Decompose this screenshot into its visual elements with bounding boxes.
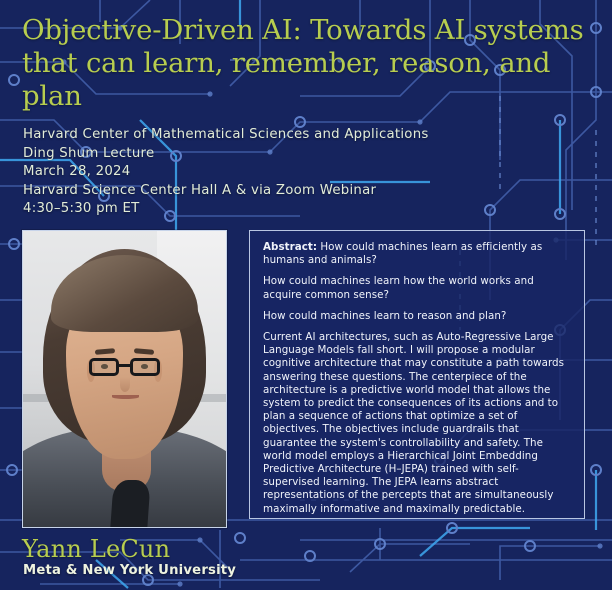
event-venue: Harvard Science Center Hall A & via Zoom… <box>23 182 429 201</box>
event-poster: Objective-Driven AI: Towards AI systems … <box>0 0 612 590</box>
speaker-photo <box>22 230 227 528</box>
photo-lens-right <box>130 358 160 377</box>
abstract-paragraph-1: Abstract: How could machines learn as ef… <box>263 241 571 267</box>
event-host: Harvard Center of Mathematical Sciences … <box>23 126 429 145</box>
abstract-paragraph-4: Current AI architectures, such as Auto-R… <box>263 331 571 516</box>
abstract-paragraph-3: How could machines learn to reason and p… <box>263 310 571 323</box>
abstract-panel: Abstract: How could machines learn as ef… <box>249 230 585 519</box>
event-details: Harvard Center of Mathematical Sciences … <box>23 126 429 219</box>
photo-lens-left <box>89 358 119 377</box>
event-date: March 28, 2024 <box>23 163 429 182</box>
speaker-name: Yann LeCun <box>22 536 170 562</box>
abstract-paragraph-2: How could machines learn how the world w… <box>263 275 571 301</box>
page-title: Objective-Driven AI: Towards AI systems … <box>22 14 590 113</box>
photo-eyebrow-left <box>95 348 115 355</box>
photo-mouth <box>112 395 139 399</box>
abstract-label: Abstract: <box>263 241 317 253</box>
photo-eyeglasses <box>89 358 160 377</box>
speaker-affiliation: Meta & New York University <box>23 563 236 578</box>
photo-glasses-bridge <box>119 364 130 367</box>
event-series: Ding Shum Lecture <box>23 145 429 164</box>
event-time: 4:30–5:30 pm ET <box>23 200 429 219</box>
photo-eyebrow-right <box>134 348 154 355</box>
photo-nose <box>120 377 131 392</box>
photo-collar <box>111 480 151 527</box>
